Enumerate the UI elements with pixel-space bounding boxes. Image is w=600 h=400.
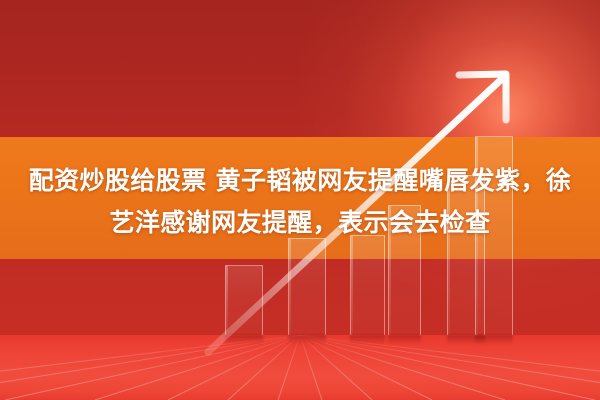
page-title: 配资炒股给股票 黄子韬被网友提醒嘴唇发紫，徐 艺洋感谢网友提醒，表示会去检查: [8, 160, 592, 244]
banner-image: 配资炒股给股票 黄子韬被网友提醒嘴唇发紫，徐 艺洋感谢网友提醒，表示会去检查: [0, 0, 600, 400]
